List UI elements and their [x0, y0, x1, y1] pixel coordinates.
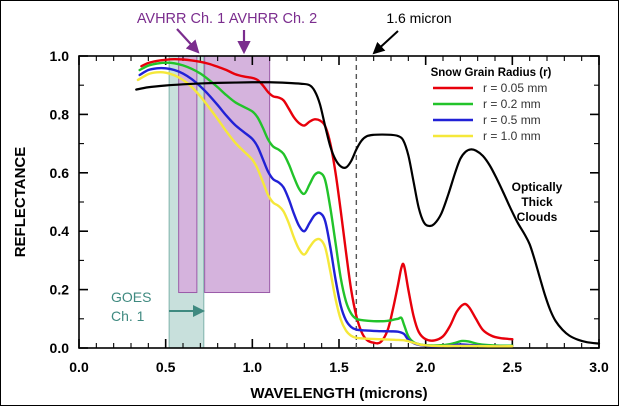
figure-container: 0.00.51.01.52.02.53.00.00.20.40.60.81.0W… [0, 0, 619, 406]
x-axis-title: WAVELENGTH (microns) [250, 385, 427, 402]
y-axis-title: REFLECTANCE [12, 147, 29, 258]
legend-entry-label: r = 0.05 mm [483, 81, 547, 95]
micron-label: 1.6 micron [386, 10, 451, 26]
y-tick-label: 0.4 [50, 223, 70, 239]
y-tick-label: 1.0 [50, 48, 70, 64]
legend-layer: Snow Grain Radius (r)r = 0.05 mmr = 0.2 … [431, 67, 552, 143]
x-tick-label: 1.0 [243, 359, 263, 375]
x-tick-label: 2.0 [416, 359, 436, 375]
legend-entry-label: r = 0.2 mm [483, 97, 541, 111]
y-tick-label: 0.8 [50, 106, 70, 122]
goes-label-line2: Ch. 1 [111, 308, 145, 324]
legend-entry-label: r = 0.5 mm [483, 113, 541, 127]
x-tick-label: 2.5 [503, 359, 523, 375]
y-tick-label: 0.6 [50, 165, 70, 181]
micron-arrow [374, 31, 398, 53]
cloud-label-line3: Clouds [517, 210, 558, 224]
band-layer [169, 56, 270, 348]
avhrr-ch1-label: AVHRR Ch. 1 [137, 11, 225, 27]
avhrr-ch1-arrow [177, 29, 198, 52]
y-tick-label: 0.2 [50, 282, 70, 298]
y-tick-label: 0.0 [50, 340, 70, 356]
avhrr-ch2-label: AVHRR Ch. 2 [229, 11, 317, 27]
x-tick-label: 3.0 [589, 359, 609, 375]
x-tick-label: 0.0 [69, 359, 89, 375]
reflectance-chart: 0.00.51.01.52.02.53.00.00.20.40.60.81.0W… [1, 1, 619, 407]
legend-entry-label: r = 1.0 mm [483, 129, 541, 143]
x-tick-label: 1.5 [329, 359, 349, 375]
x-tick-label: 0.5 [156, 359, 176, 375]
legend-title: Snow Grain Radius (r) [431, 67, 552, 79]
avhrr-ch1-band [179, 56, 197, 293]
goes-label-line1: GOES [111, 289, 151, 305]
cloud-label-line1: Optically [512, 180, 563, 194]
cloud-label-line2: Thick [521, 195, 553, 209]
